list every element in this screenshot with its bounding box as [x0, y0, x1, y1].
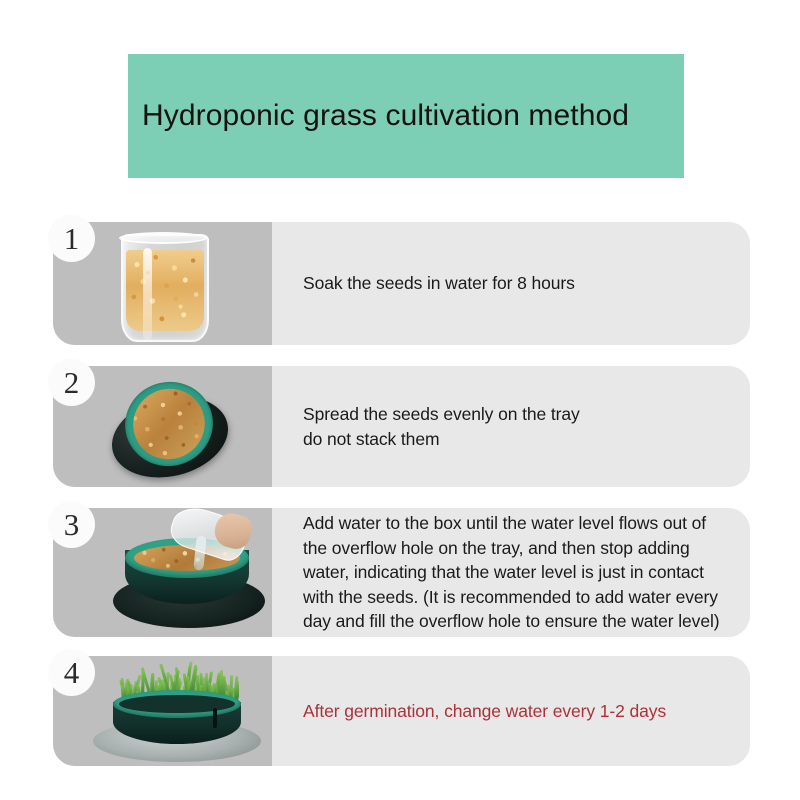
step-text-panel: Add water to the box until the water lev… — [272, 508, 750, 637]
step-row: Add water to the box until the water lev… — [53, 508, 750, 637]
step-description: Soak the seeds in water for 8 hours — [303, 271, 575, 296]
step-text-panel: Soak the seeds in water for 8 hours — [272, 222, 750, 345]
steps-list: Soak the seeds in water for 8 hours 1 Sp… — [0, 0, 800, 800]
step-text-panel: Spread the seeds evenly on the tray do n… — [272, 366, 750, 487]
glass-body — [121, 234, 209, 342]
step-description: Spread the seeds evenly on the tray do n… — [303, 402, 580, 451]
glass-rim — [119, 232, 207, 244]
step-text-panel: After germination, change water every 1-… — [272, 656, 750, 766]
step-description: After germination, change water every 1-… — [303, 699, 666, 724]
tray-with-grown-grass-illustration — [87, 658, 267, 766]
step-number: 4 — [64, 657, 80, 688]
tray-rim-inner — [119, 695, 235, 713]
step-number: 3 — [64, 509, 80, 540]
glass-highlight — [143, 248, 152, 340]
step-row: After germination, change water every 1-… — [53, 656, 750, 766]
pouring-water-into-tray-illustration — [99, 512, 272, 637]
step-row: Soak the seeds in water for 8 hours — [53, 222, 750, 345]
step-number-badge: 4 — [48, 649, 95, 696]
step-number-badge: 3 — [48, 501, 95, 548]
step-row: Spread the seeds evenly on the tray do n… — [53, 366, 750, 487]
tray-rim — [113, 690, 241, 718]
step-number: 2 — [64, 367, 80, 398]
tray-with-spread-seeds-illustration — [95, 372, 245, 482]
overflow-hole — [213, 708, 217, 728]
step-number-badge: 1 — [48, 215, 95, 262]
soaking-seeds — [126, 250, 204, 331]
step-number-badge: 2 — [48, 359, 95, 406]
glass-of-soaking-seeds-illustration — [107, 226, 219, 344]
step-number: 1 — [64, 223, 80, 254]
step-description: Add water to the box until the water lev… — [303, 511, 719, 634]
